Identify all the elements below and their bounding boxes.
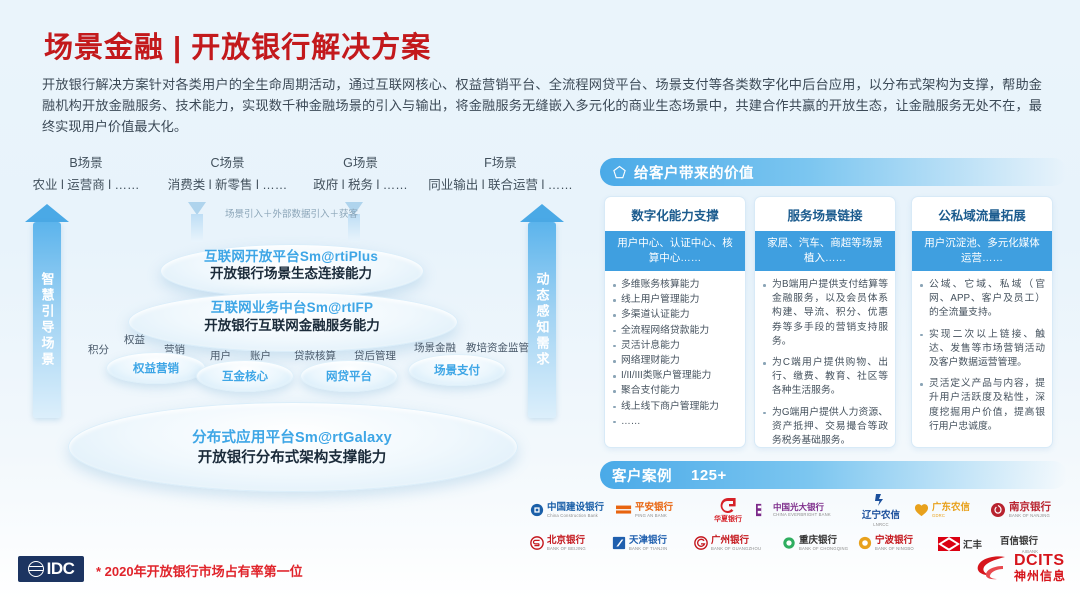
- nanjing-logo-icon: [990, 502, 1006, 518]
- logo-text: 中国光大银行 CHINA EVERBRIGHT BANK: [773, 503, 831, 517]
- logo-text: 北京银行 BANK OF BEIJING: [547, 536, 586, 551]
- logo-cn: 重庆银行: [799, 536, 848, 546]
- logo-text: 重庆银行 BANK OF CHONGQING: [799, 536, 848, 551]
- list-item: 线上用户管理能力: [612, 293, 738, 307]
- logo-en: BANK OF NANJING: [1009, 514, 1051, 518]
- logo-gdrc: 广东农信 GDRC: [914, 503, 990, 518]
- logo-cn: 汇丰: [963, 537, 982, 551]
- value-card-body: 公域、它域、私域（官网、APP、客户及员工）的全流量支持。 实现二次以上链接、触…: [912, 271, 1052, 434]
- value-card-list: 公域、它域、私域（官网、APP、客户及员工）的全流量支持。 实现二次以上链接、触…: [919, 278, 1045, 434]
- scene-sub: 消费类 l 新零售 l ……: [150, 174, 305, 193]
- ningbo-logo-icon: [858, 536, 872, 550]
- pod-hujin-hexin: 互金核心: [196, 360, 294, 392]
- scene-sub: 农业 l 运营商 l ……: [16, 174, 156, 193]
- flow-stem-c: [191, 214, 203, 242]
- layer3-product-label: 分布式应用平台Sm@rtGalaxy: [68, 426, 516, 447]
- intro-paragraph: 开放银行解决方案针对各类用户的全生命周期活动，通过互联网核心、权益营销平台、全流…: [42, 74, 1042, 137]
- logo-text: 平安银行 PING AN BANK: [635, 503, 673, 518]
- value-card-digital-capability: 数字化能力支撑 用户中心、认证中心、核算中心…… 多维账务核算能力 线上用户管理…: [604, 196, 746, 448]
- pod-label: 权益营销: [133, 360, 179, 376]
- logo-cn: 华夏银行: [714, 514, 742, 524]
- logo-cn: 南京银行: [1009, 502, 1051, 513]
- list-item: 网络理财能力: [612, 354, 738, 368]
- logo-tianjin: 天津银行 BANK OF TIANJIN: [612, 536, 694, 551]
- logo-beijing: 北京银行 BANK OF BEIJING: [530, 536, 612, 551]
- layer2-capability-text: 开放银行互联网金融服务能力: [204, 318, 380, 333]
- logo-en: PING AN BANK: [635, 514, 673, 518]
- cap-tag-quanyi: 权益: [124, 332, 145, 347]
- left-bar-label: 智慧引导场景: [38, 272, 57, 368]
- scene-title: B场景: [16, 152, 156, 171]
- right-bar-arrow-icon: [520, 204, 564, 222]
- scene-title: G场景: [288, 152, 433, 171]
- scene-label-b: B场景 农业 l 运营商 l ……: [16, 152, 156, 193]
- everbright-logo-icon: [756, 503, 770, 517]
- layer3-capability-text: 开放银行分布式架构支撑能力: [198, 450, 387, 466]
- dcits-text: DCITS 神州信息: [1014, 553, 1066, 582]
- list-item: 灵活定义产品与内容，提升用户活跃度及粘性，深度挖掘用户价值，提高银行用户忠诚度。: [919, 377, 1045, 434]
- tianjin-logo-icon: [612, 536, 626, 550]
- logo-en: LNRCC: [873, 522, 888, 527]
- layer1-capability-text: 开放银行场景生态连接能力: [210, 266, 372, 281]
- logo-cn: 天津银行: [629, 536, 667, 546]
- customer-logo-grid: 中国建设银行 China Construction Bank 平安银行 PING…: [530, 494, 1075, 560]
- list-item: 灵活计息能力: [612, 339, 738, 353]
- logo-lnrcc: 辽宁农信 LNRCC: [848, 494, 914, 528]
- pod-label: 场景支付: [434, 362, 480, 378]
- value-card-body: 多维账务核算能力 线上用户管理能力 多渠道认证能力 全流程网络贷款能力 灵活计息…: [605, 271, 745, 429]
- cap-tag-changjing: 场景金融: [414, 340, 456, 355]
- list-item: 实现二次以上链接、触达、发售等市场营销活动及客户数据运营管理。: [919, 328, 1045, 371]
- logo-nanjing: 南京银行 BANK OF NANJING: [990, 502, 1068, 518]
- value-card-title: 服务场景链接: [755, 197, 895, 231]
- scene-sub: 同业输出 l 联合运营 l ……: [418, 174, 583, 193]
- logo-en: BANK OF TIANJIN: [629, 547, 667, 551]
- list-item: 聚合支付能力: [612, 384, 738, 398]
- logo-cn: 广州银行: [711, 536, 761, 546]
- cases-count: 125+: [691, 467, 727, 484]
- logo-cn: 北京银行: [547, 536, 586, 546]
- logo-aibank: 百信银行 AIBANK: [1000, 533, 1060, 554]
- dcits-brand-en: DCITS: [1014, 553, 1066, 570]
- list-item: 多维账务核算能力: [612, 278, 738, 292]
- idc-label: IDC: [47, 559, 75, 579]
- flow-note: 场景引入＋外部数据引入＋获客: [225, 206, 358, 220]
- value-card-subtitle: 家居、汽车、商超等场景植入……: [755, 231, 895, 271]
- logo-en: BANK OF GUANGZHOU: [711, 547, 761, 551]
- architecture-diagram: B场景 农业 l 运营商 l …… C场景 消费类 l 新零售 l …… G场景…: [10, 152, 580, 492]
- value-panel-title: 给客户带来的价值: [634, 162, 754, 183]
- scene-sub: 政府 l 税务 l ……: [288, 174, 433, 193]
- cap-tag-jifen: 积分: [88, 342, 109, 357]
- scene-title: C场景: [150, 152, 305, 171]
- page-title: 场景金融 | 开放银行解决方案: [44, 24, 431, 66]
- value-panel-pill: 给客户带来的价值: [600, 158, 1067, 186]
- logo-cn: 辽宁农信: [862, 507, 900, 521]
- logo-guangzhou: 广州银行 BANK OF GUANGZHOU: [694, 536, 782, 551]
- cases-title: 客户案例: [612, 465, 672, 486]
- layer1-capability-label: 开放银行场景生态连接能力: [160, 262, 422, 283]
- logo-en: BANK OF CHONGQING: [799, 547, 848, 551]
- logo-text: 广东农信 GDRC: [932, 503, 970, 518]
- gdrc-logo-icon: [914, 503, 929, 517]
- logo-cn: 百信银行: [1000, 533, 1038, 547]
- list-item: 为G端用户提供人力资源、资产抵押、交易撮合等政务税务基础服务。: [762, 406, 888, 448]
- list-item: ……: [612, 415, 738, 429]
- huaxia-logo-icon: [718, 497, 738, 514]
- right-vertical-bar: 动态感知需求: [528, 222, 556, 418]
- logo-cn: 宁波银行: [875, 536, 914, 546]
- cases-pill: 客户案例 125+: [600, 461, 1067, 489]
- layer3-capability-label: 开放银行分布式架构支撑能力: [68, 446, 516, 467]
- chongqing-logo-icon: [782, 536, 796, 550]
- logo-text: 中国建设银行 China Construction Bank: [547, 503, 604, 518]
- beijing-logo-icon: [530, 536, 544, 550]
- scene-title: F场景: [418, 152, 583, 171]
- cap-tag-jiaopei: 教培资金监管: [466, 340, 529, 355]
- guangzhou-logo-icon: [694, 536, 708, 550]
- pod-changjing-zhifu: 场景支付: [408, 354, 506, 386]
- logo-huaxia: 华夏银行: [700, 497, 756, 524]
- logo-en: BANK OF NINGBO: [875, 547, 914, 551]
- logo-text: 天津银行 BANK OF TIANJIN: [629, 536, 667, 551]
- logo-row: 中国建设银行 China Construction Bank 平安银行 PING…: [530, 494, 1075, 527]
- logo-text: 宁波银行 BANK OF NINGBO: [875, 536, 914, 551]
- list-item: 线上线下商户管理能力: [612, 400, 738, 414]
- value-card-service-scene: 服务场景链接 家居、汽车、商超等场景植入…… 为B端用户提供支付结算等金融服务，…: [754, 196, 896, 448]
- logo-chongqing: 重庆银行 BANK OF CHONGQING: [782, 536, 858, 551]
- list-item: 公域、它域、私域（官网、APP、客户及员工）的全流量支持。: [919, 278, 1045, 321]
- left-bar-arrow-icon: [25, 204, 69, 222]
- logo-en: BANK OF BEIJING: [547, 547, 586, 551]
- pod-label: 互金核心: [222, 368, 268, 384]
- ccb-logo-icon: [530, 503, 544, 517]
- logo-ningbo: 宁波银行 BANK OF NINGBO: [858, 536, 938, 551]
- logo-cn: 中国光大银行: [773, 503, 831, 512]
- value-card-traffic-expansion: 公私域流量拓展 用户沉淀池、多元化媒体运营…… 公域、它域、私域（官网、APP、…: [911, 196, 1053, 448]
- diamond-icon: [612, 165, 627, 180]
- dcits-brand-logo: DCITS 神州信息: [975, 553, 1066, 582]
- value-card-title: 公私域流量拓展: [912, 197, 1052, 231]
- slide-root: 场景金融 | 开放银行解决方案 开放银行解决方案针对各类用户的全生命周期活动，通…: [0, 0, 1080, 600]
- left-vertical-bar: 智慧引导场景: [33, 222, 61, 418]
- logo-en: CHINA EVERBRIGHT BANK: [773, 513, 831, 517]
- footnote: * 2020年开放银行市场占有率第一位: [96, 561, 303, 580]
- logo-ccb: 中国建设银行 China Construction Bank: [530, 503, 616, 518]
- pod-quanyi-yingxiao: 权益营销: [106, 352, 206, 384]
- value-card-title: 数字化能力支撑: [605, 197, 745, 231]
- pod-wangdai-pingtai: 网贷平台: [300, 360, 398, 392]
- value-card-subtitle: 用户中心、认证中心、核算中心……: [605, 231, 745, 271]
- logo-cn: 平安银行: [635, 503, 673, 513]
- hsbc-logo-icon: [938, 537, 960, 551]
- scene-label-c: C场景 消费类 l 新零售 l ……: [150, 152, 305, 193]
- list-item: 为C端用户提供购物、出行、缴费、教育、社区等各种生活服务。: [762, 356, 888, 399]
- logo-en: GDRC: [932, 514, 970, 518]
- scene-label-f: F场景 同业输出 l 联合运营 l ……: [418, 152, 583, 193]
- value-card-subtitle: 用户沉淀池、多元化媒体运营……: [912, 231, 1052, 271]
- logo-text: 广州银行 BANK OF GUANGZHOU: [711, 536, 761, 551]
- globe-icon: [28, 561, 44, 577]
- logo-hsbc: 汇丰: [938, 537, 1000, 551]
- layer2-capability-label: 开放银行互联网金融服务能力: [128, 314, 456, 335]
- logo-en: China Construction Bank: [547, 514, 604, 518]
- pod-label: 网贷平台: [326, 368, 372, 384]
- dcits-swirl-icon: [975, 554, 1009, 582]
- dcits-brand-cn: 神州信息: [1014, 570, 1066, 583]
- layer3-product-text: 分布式应用平台Sm@rtGalaxy: [192, 430, 392, 446]
- logo-pingan: 平安银行 PING AN BANK: [616, 503, 700, 518]
- logo-everbright: 中国光大银行 CHINA EVERBRIGHT BANK: [756, 503, 848, 517]
- layer2-product-text: 互联网业务中台Sm@rtIFP: [211, 300, 373, 315]
- lnrcc-logo-icon: [874, 494, 888, 506]
- value-card-list: 多维账务核算能力 线上用户管理能力 多渠道认证能力 全流程网络贷款能力 灵活计息…: [612, 278, 738, 429]
- logo-cn: 广东农信: [932, 503, 970, 513]
- value-card-list: 为B端用户提供支付结算等金融服务，以及会员体系构建、导流、积分、优惠券等多手段的…: [762, 278, 888, 448]
- logo-cn: 中国建设银行: [547, 503, 604, 513]
- pingan-logo-icon: [616, 504, 632, 516]
- scene-label-g: G场景 政府 l 税务 l ……: [288, 152, 433, 193]
- list-item: 多渠道认证能力: [612, 308, 738, 322]
- idc-logo: IDC: [18, 556, 84, 582]
- list-item: I/II/III类账户管理能力: [612, 369, 738, 383]
- list-item: 为B端用户提供支付结算等金融服务，以及会员体系构建、导流、积分、优惠券等多手段的…: [762, 278, 888, 349]
- list-item: 全流程网络贷款能力: [612, 324, 738, 338]
- value-card-body: 为B端用户提供支付结算等金融服务，以及会员体系构建、导流、积分、优惠券等多手段的…: [755, 271, 895, 448]
- right-bar-label: 动态感知需求: [533, 272, 552, 368]
- logo-text: 南京银行 BANK OF NANJING: [1009, 502, 1051, 518]
